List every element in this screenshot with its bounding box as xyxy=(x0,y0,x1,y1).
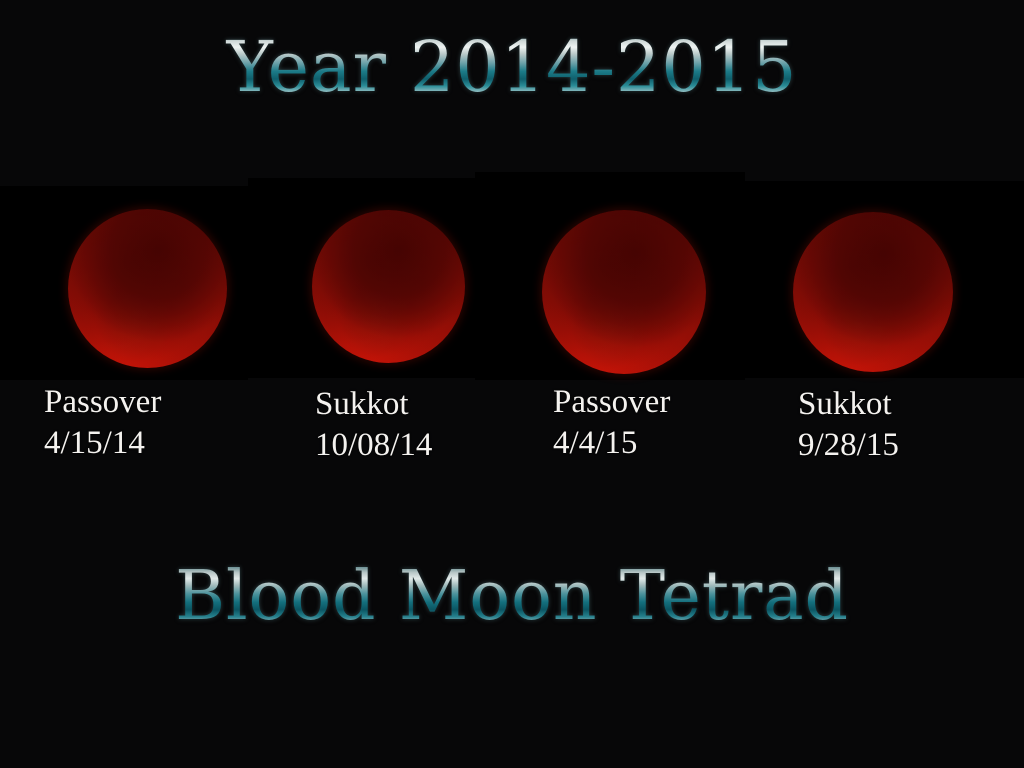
moon-photo-tile-2 xyxy=(248,178,475,378)
event-caption-4: Sukkot 9/28/15 xyxy=(798,384,899,466)
event-name-2: Sukkot xyxy=(315,384,432,425)
moon-photo-tile-3 xyxy=(475,172,745,380)
moon-photo-tile-4 xyxy=(745,181,1024,378)
page-title-top: Year 2014-2015 xyxy=(0,24,1024,110)
event-date-3: 4/4/15 xyxy=(553,423,670,464)
event-caption-1: Passover 4/15/14 xyxy=(44,382,161,464)
blood-moon-image-4 xyxy=(793,212,953,372)
event-name-3: Passover xyxy=(553,382,670,423)
blood-moon-tetrad-poster: Year 2014-2015 Passover 4/15/14 Sukkot 1… xyxy=(0,0,1024,768)
page-title-bottom: Blood Moon Tetrad xyxy=(0,555,1024,639)
moon-photo-tile-1 xyxy=(0,186,248,380)
event-date-2: 10/08/14 xyxy=(315,425,432,466)
event-caption-3: Passover 4/4/15 xyxy=(553,382,670,464)
event-date-4: 9/28/15 xyxy=(798,425,899,466)
event-name-1: Passover xyxy=(44,382,161,423)
blood-moon-image-2 xyxy=(312,210,465,363)
blood-moon-image-3 xyxy=(542,210,706,374)
blood-moon-image-1 xyxy=(68,209,227,368)
event-name-4: Sukkot xyxy=(798,384,899,425)
event-date-1: 4/15/14 xyxy=(44,423,161,464)
event-caption-2: Sukkot 10/08/14 xyxy=(315,384,432,466)
